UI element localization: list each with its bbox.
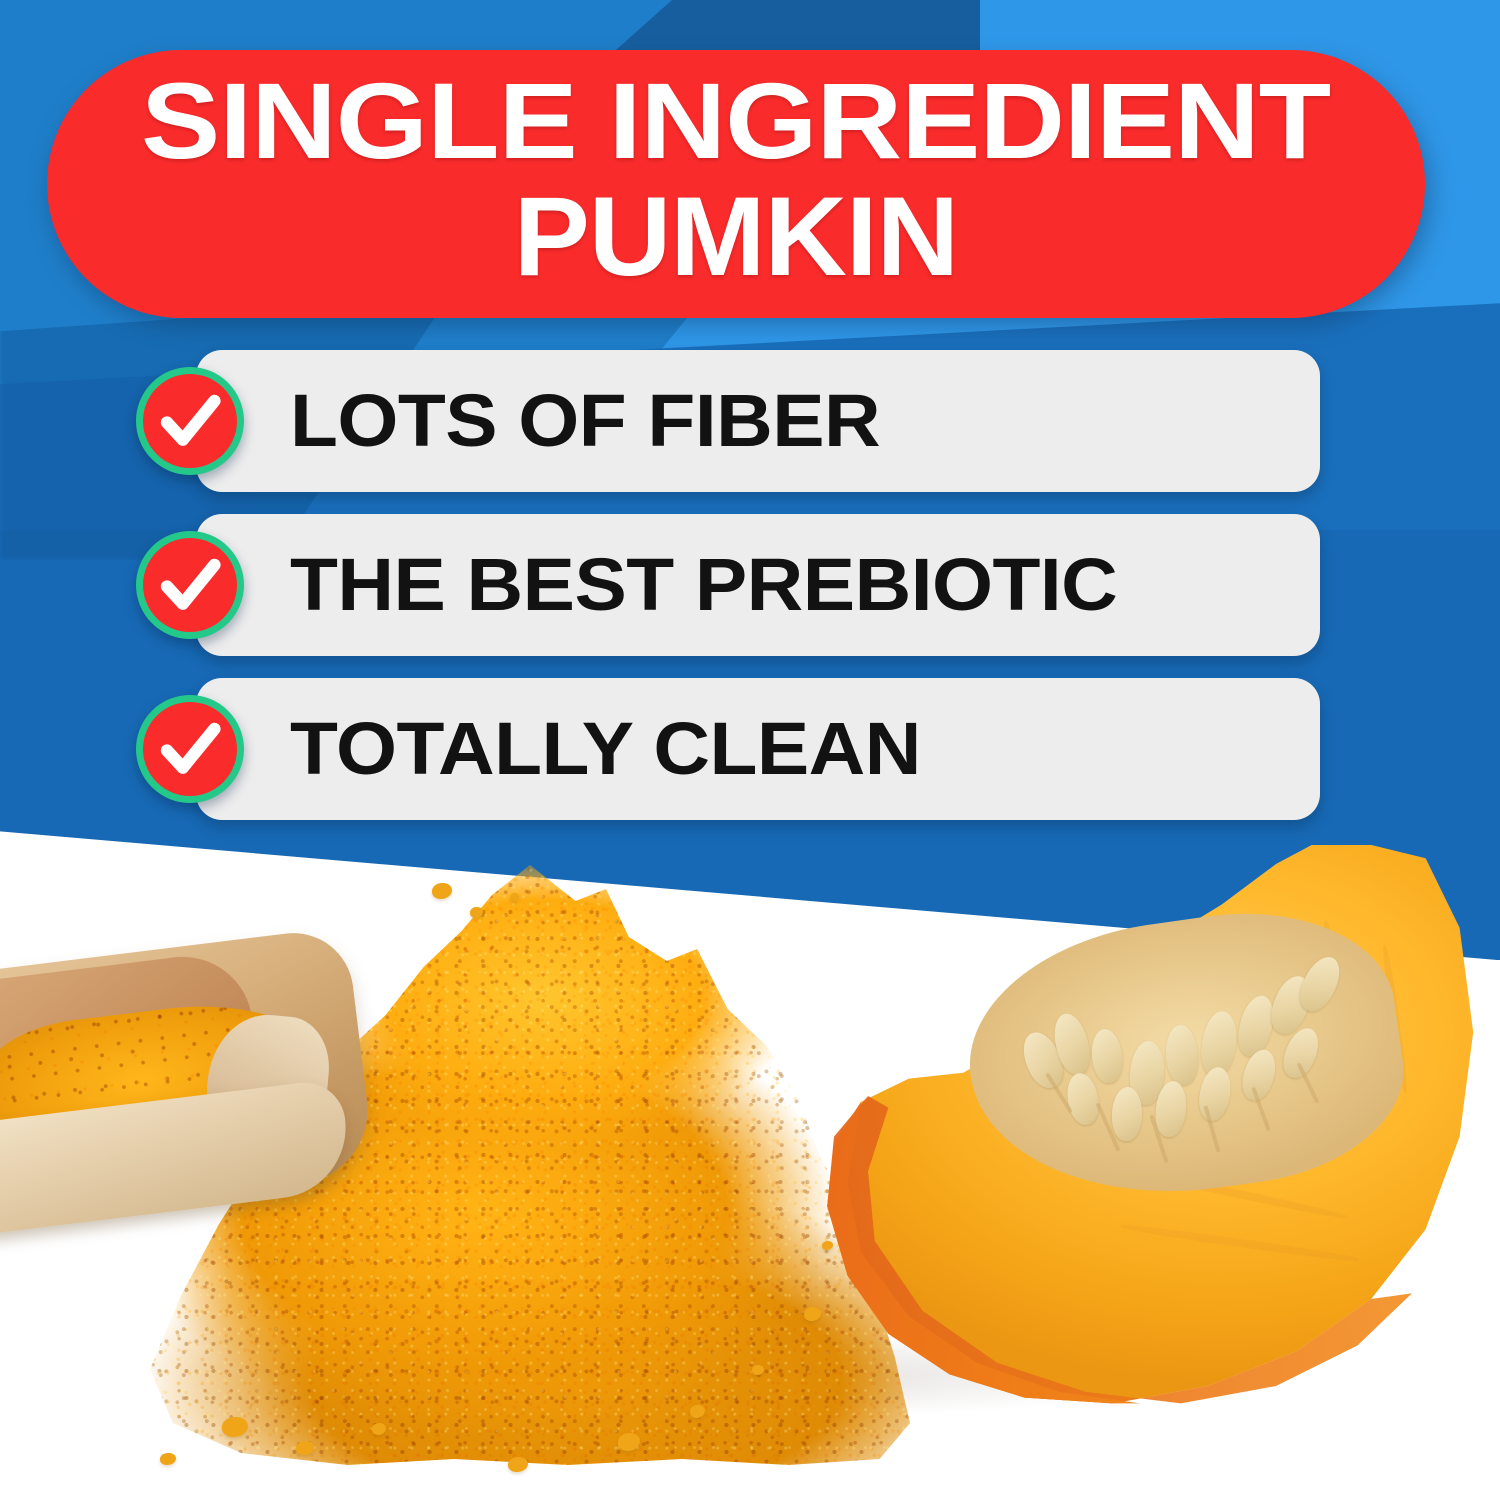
feature-card-prebiotic: THE BEST PREBIOTIC — [196, 514, 1320, 656]
product-infographic-poster: SINGLE INGREDIENT PUMKIN LOTS OF FIBER T… — [0, 0, 1500, 1500]
check-icon — [136, 367, 244, 475]
wooden-scoop — [0, 898, 403, 1278]
feature-card-clean: TOTALLY CLEAN — [196, 678, 1320, 820]
check-icon — [136, 695, 244, 803]
title-banner: SINGLE INGREDIENT PUMKIN — [47, 50, 1425, 318]
feature-label: TOTALLY CLEAN — [290, 712, 921, 786]
powder-crumb — [160, 1453, 176, 1465]
banner-title-line-2: PUMKIN — [514, 183, 958, 291]
pumpkin-wedge — [800, 845, 1480, 1415]
powder-crumb — [508, 1457, 528, 1472]
feature-list: LOTS OF FIBER THE BEST PREBIOTIC TOTALLY… — [0, 350, 1500, 842]
feature-label: THE BEST PREBIOTIC — [290, 548, 1117, 622]
feature-label: LOTS OF FIBER — [290, 384, 880, 458]
feature-row: TOTALLY CLEAN — [0, 678, 1500, 820]
feature-card-fiber: LOTS OF FIBER — [196, 350, 1320, 492]
check-icon — [136, 531, 244, 639]
product-photo — [0, 845, 1500, 1500]
feature-row: LOTS OF FIBER — [0, 350, 1500, 492]
feature-row: THE BEST PREBIOTIC — [0, 514, 1500, 656]
banner-title-line-1: SINGLE INGREDIENT — [141, 69, 1330, 173]
powder-crumb — [432, 883, 452, 899]
